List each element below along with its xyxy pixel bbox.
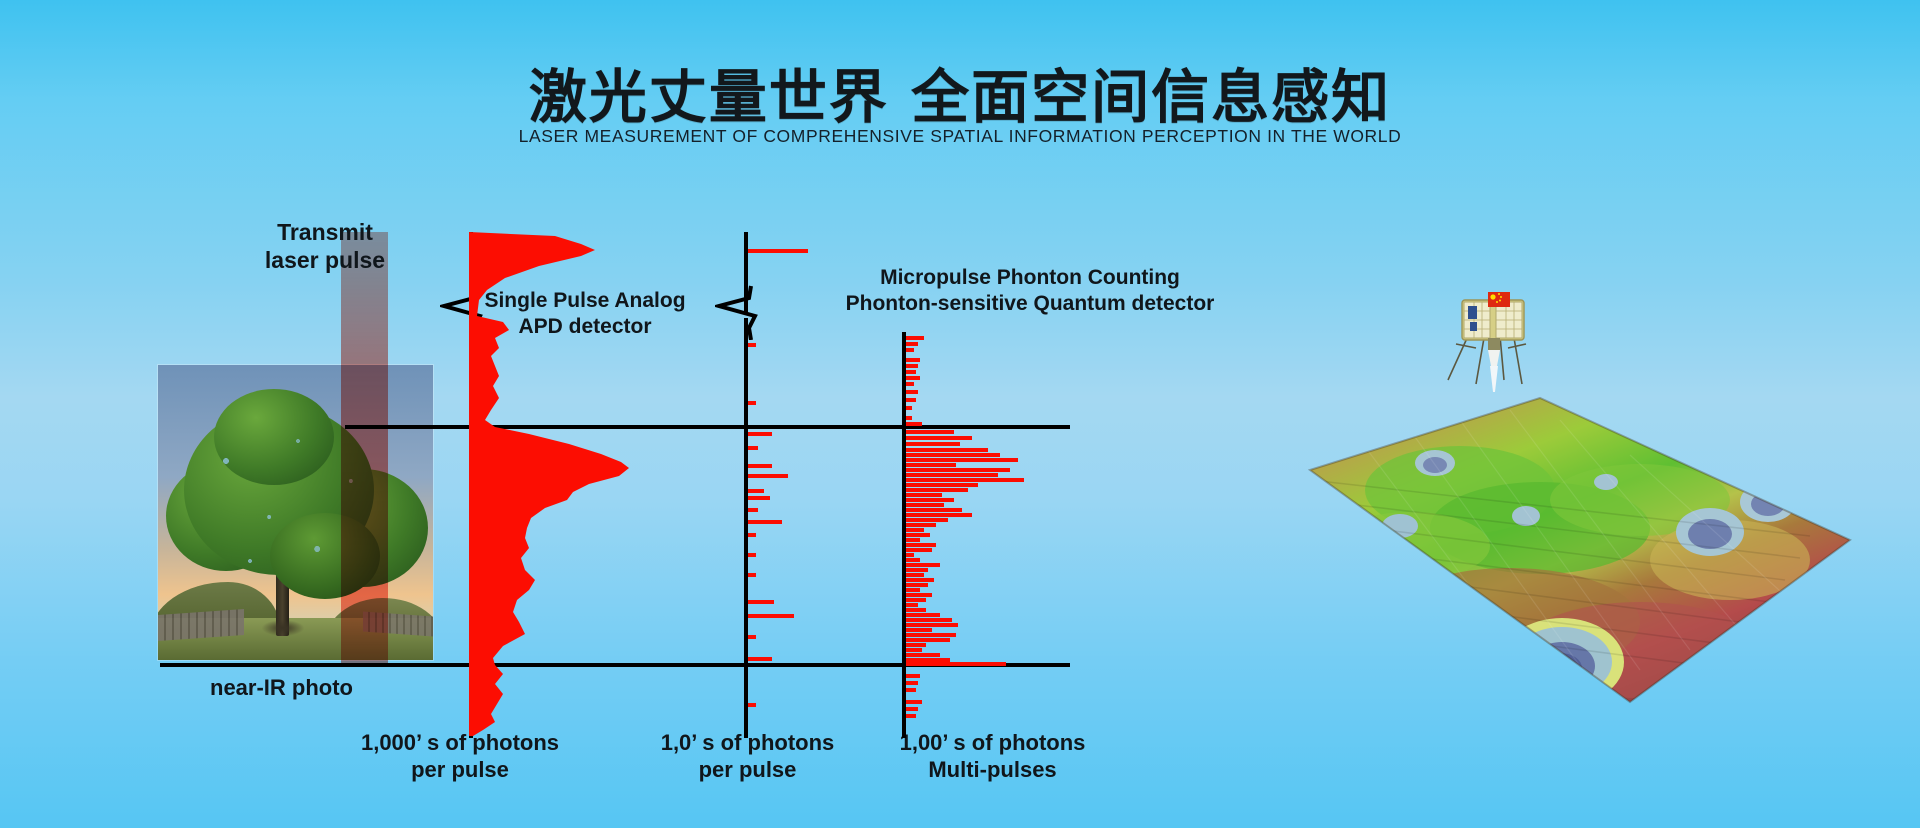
photon-count-bar [748,446,758,450]
crater [1305,548,1345,576]
photon-count-bar [906,538,920,542]
photon-count-bar [906,638,950,642]
poster-canvas: 激光丈量世界 全面空间信息感知 LASER MEASUREMENT OF COM… [0,0,1920,828]
photon-count-bar [906,473,998,477]
photon-count-bar [906,707,918,711]
axis2-caption: 1,0’ s of photons per pulse [640,730,855,784]
photon-count-bar [906,483,978,487]
photon-count-bar [906,518,948,522]
photon-count-bar [906,468,1010,472]
photon-count-bar [906,448,988,452]
photon-count-bar [748,533,756,537]
photon-count-bar [906,643,926,647]
analog-waveform-area [469,228,669,740]
photon-count-bar [906,358,920,362]
photon-count-bar [748,249,808,253]
photon-count-bar [906,528,924,532]
photon-count-bar [748,553,756,557]
photon-count-bar [906,508,962,512]
photon-count-bar [906,336,924,340]
photon-count-bar [906,463,956,467]
photon-count-bar [906,558,920,562]
crater [1594,474,1618,490]
photon-count-bar [906,608,926,612]
photon-count-bar [906,714,916,718]
photon-count-bar [748,474,788,478]
photon-count-bar [906,533,930,537]
zigzag-break-icon [715,284,759,340]
page-title: 激光丈量世界 全面空间信息感知 [0,50,1920,134]
photon-count-bar [906,548,932,552]
photon-count-bar [748,496,770,500]
lidar-terrain-model [1210,350,1890,730]
photon-count-bar [748,657,772,661]
photon-count-bar [906,578,934,582]
photon-count-bar [906,430,954,434]
photon-count-bar [748,432,772,436]
photon-count-bar [906,588,920,592]
near-ir-photo-label: near-IR photo [210,675,430,702]
photon-count-bar [906,342,918,346]
photon-count-bar [906,382,914,386]
photon-count-bar [906,633,956,637]
photon-count-bar [748,703,756,707]
photon-count-bar [906,442,960,446]
photon-count-bar [906,436,972,440]
photon-count-bar [906,406,912,410]
page-subtitle: LASER MEASUREMENT OF COMPREHENSIVE SPATI… [0,126,1920,147]
photon-count-bar [906,390,918,394]
photon-count-bar [906,603,918,607]
photon-count-bar [906,662,1006,666]
crater [1415,450,1455,476]
canopy-reference-line [345,425,1070,429]
photon-count-bar [906,653,940,657]
photon-count-bar [906,598,926,602]
photon-count-bar [906,513,972,517]
photon-count-bar [906,618,952,622]
lowcount-axis-lower [744,318,748,738]
photon-count-bar [906,493,942,497]
photon-count-bar [748,401,756,405]
photon-count-bar [906,503,944,507]
photon-count-bar [748,600,774,604]
photon-count-bar [906,583,928,587]
photon-count-bar [906,398,916,402]
photon-count-bar [906,568,928,572]
photon-count-bar [906,348,914,352]
photon-count-bar [906,593,932,597]
photon-count-bar [906,458,1018,462]
crater [1512,506,1540,526]
photon-count-bar [906,563,940,567]
photon-count-bar [906,688,916,692]
laser-beam-icon [341,232,388,664]
photon-count-bar [906,370,916,374]
photon-count-bar [748,464,772,468]
photon-count-bar [906,364,918,368]
axis3-caption: 1,00’ s of photons Multi-pulses [885,730,1100,784]
photon-count-bar [906,623,958,627]
transmit-laser-pulse-label: Transmit laser pulse [225,218,425,274]
lander-panel [1468,306,1477,319]
photon-count-bar [906,648,922,652]
photon-count-bar [748,635,756,639]
photon-count-bar [906,523,936,527]
photon-count-bar [748,573,756,577]
photon-count-bar [748,508,758,512]
photon-count-bar [906,488,968,492]
near-ir-photo-image [158,365,433,660]
photon-count-bar [906,422,922,426]
photon-count-bar [906,681,918,685]
micropulse-detector-label: Micropulse Phonton Counting Phonton-sens… [820,265,1240,316]
photon-count-bar [748,343,756,347]
photon-count-bar [906,553,914,557]
photon-count-bar [906,573,924,577]
photon-count-bar [906,700,922,704]
photon-count-bar [906,453,1000,457]
crater [1500,618,1624,706]
photon-count-bar [906,613,940,617]
photon-count-bar [906,543,936,547]
photon-count-bar [748,520,782,524]
photon-count-bar [906,674,920,678]
analog-waveform-path [469,232,629,736]
photon-count-bar [748,614,794,618]
photon-count-bar [906,478,1024,482]
photon-count-bar [906,376,920,380]
photon-count-bar [906,416,912,420]
photon-count-bar [748,489,764,493]
photon-count-bar [906,498,954,502]
photon-count-bar [906,628,932,632]
